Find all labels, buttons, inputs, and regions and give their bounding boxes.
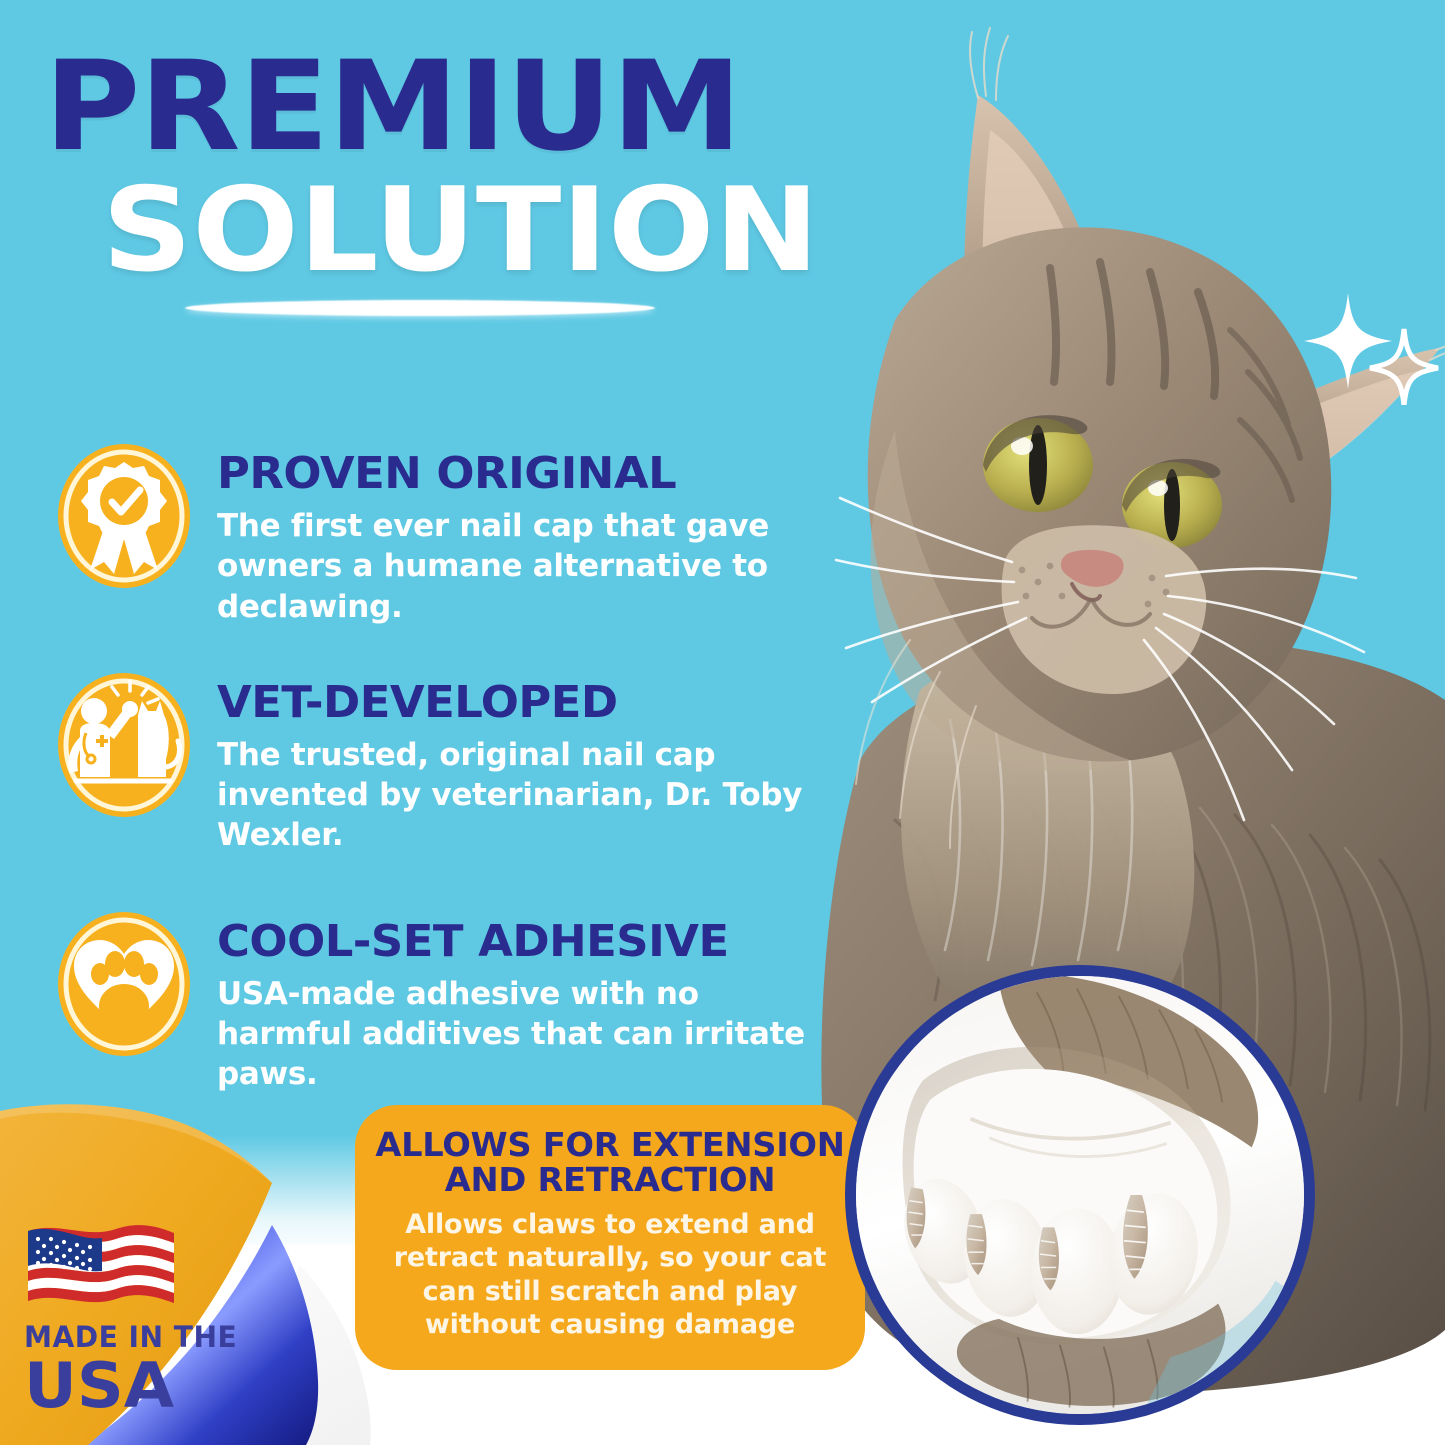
callout-title: ALLOWS FOR EXTENSION AND RETRACTION bbox=[372, 1127, 847, 1198]
callout-box: ALLOWS FOR EXTENSION AND RETRACTION Allo… bbox=[355, 1105, 865, 1370]
sparkle-icon bbox=[1300, 285, 1440, 405]
feature-item: VET-DEVELOPED The trusted, original nail… bbox=[52, 669, 842, 856]
feature-body: The first ever nail cap that gave owners… bbox=[217, 506, 817, 627]
callout-body: Allows claws to extend and retract natur… bbox=[377, 1208, 843, 1342]
feature-item: COOL-SET ADHESIVE USA-made adhesive with… bbox=[52, 908, 842, 1095]
title-line-solution: SOLUTION bbox=[102, 173, 882, 289]
title-line-premium: PREMIUM bbox=[44, 48, 871, 167]
heart-paw-icon bbox=[52, 908, 197, 1060]
us-flag-icon bbox=[24, 1217, 176, 1313]
made-in-usa-line1: MADE IN THE bbox=[24, 1323, 247, 1352]
feature-title: PROVEN ORIGINAL bbox=[217, 452, 829, 496]
title-underline-swoosh bbox=[185, 300, 655, 316]
page-title: PREMIUM SOLUTION bbox=[44, 48, 824, 289]
cat-paw-closeup-photo bbox=[845, 965, 1315, 1425]
feature-title: COOL-SET ADHESIVE bbox=[217, 920, 829, 964]
feature-item: PROVEN ORIGINAL The first ever nail cap … bbox=[52, 440, 842, 627]
feature-text: COOL-SET ADHESIVE USA-made adhesive with… bbox=[217, 908, 817, 1095]
product-infographic: PREMIUM SOLUTION bbox=[0, 0, 1445, 1445]
feature-title: VET-DEVELOPED bbox=[217, 681, 829, 725]
feature-text: PROVEN ORIGINAL The first ever nail cap … bbox=[217, 440, 817, 627]
made-in-usa-badge: MADE IN THE USA bbox=[24, 1217, 254, 1417]
vet-highfive-cat-icon bbox=[52, 669, 197, 821]
feature-body: The trusted, original nail cap invented … bbox=[217, 735, 817, 856]
feature-text: VET-DEVELOPED The trusted, original nail… bbox=[217, 669, 817, 856]
made-in-usa-line2: USA bbox=[24, 1354, 266, 1417]
award-ribbon-icon bbox=[52, 440, 197, 592]
feature-list: PROVEN ORIGINAL The first ever nail cap … bbox=[52, 440, 842, 1131]
